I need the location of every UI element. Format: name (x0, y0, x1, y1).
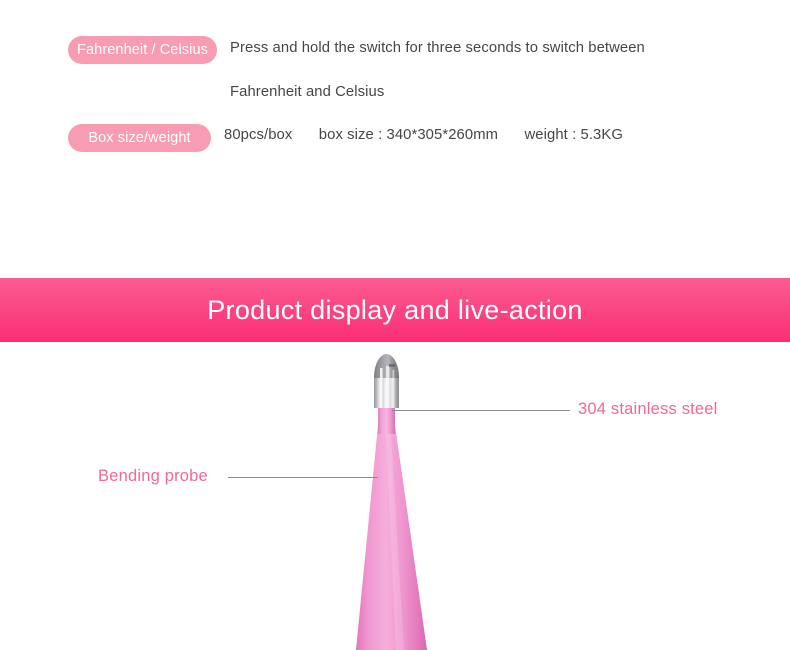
badge-fahrenheit-celsius: Fahrenheit / Celsius (68, 36, 217, 64)
specification-section: Fahrenheit / Celsius Press and hold the … (0, 0, 790, 278)
spec-value-box-size: box size : 340*305*260mm (319, 127, 498, 143)
spec-text-packaging: 80pcs/box box size : 340*305*260mm weigh… (224, 127, 623, 143)
spec-row-box-size-weight: Box size/weight 80pcs/box box size : 340… (0, 124, 790, 158)
product-probe-illustration (0, 342, 790, 650)
spec-text-switch-instruction-line1: Press and hold the switch for three seco… (230, 40, 645, 56)
section-banner-product-display: Product display and live-action (0, 278, 790, 342)
annotation-label-bending-probe: Bending probe (98, 467, 208, 486)
spec-text-switch-instruction-line2: Fahrenheit and Celsius (230, 84, 384, 100)
leader-line-stainless-steel (392, 410, 570, 411)
product-display-area: 304 stainless steel Bending probe (0, 342, 790, 650)
spec-row-temperature-unit: Fahrenheit / Celsius Press and hold the … (0, 36, 790, 112)
banner-title: Product display and live-action (207, 295, 583, 326)
annotation-label-stainless-steel: 304 stainless steel (578, 400, 718, 419)
spec-value-weight: weight : 5.3KG (524, 127, 622, 143)
badge-box-size-weight: Box size/weight (68, 124, 211, 152)
spec-value-quantity: 80pcs/box (224, 127, 292, 143)
leader-line-bending-probe (228, 477, 378, 478)
